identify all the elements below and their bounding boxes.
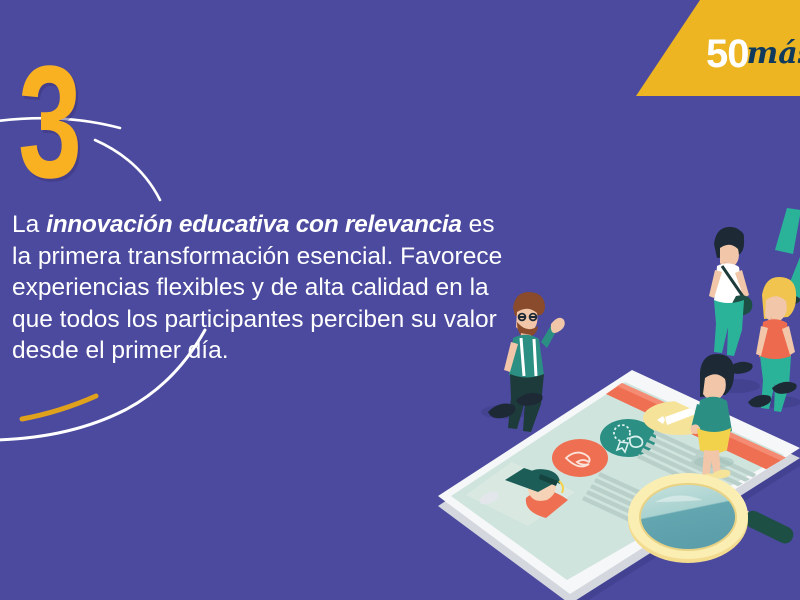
person-woman-on-tablet (691, 354, 735, 483)
person-man-waving (481, 292, 565, 432)
magnifying-glass (628, 473, 796, 563)
person-woman-orange-top (748, 277, 800, 412)
bird-icon (552, 439, 608, 477)
illustration-isometric-tablet (0, 0, 800, 600)
slide-canvas: 50más 3 La innovación educativa con rele… (0, 0, 800, 600)
tablet (438, 370, 800, 600)
